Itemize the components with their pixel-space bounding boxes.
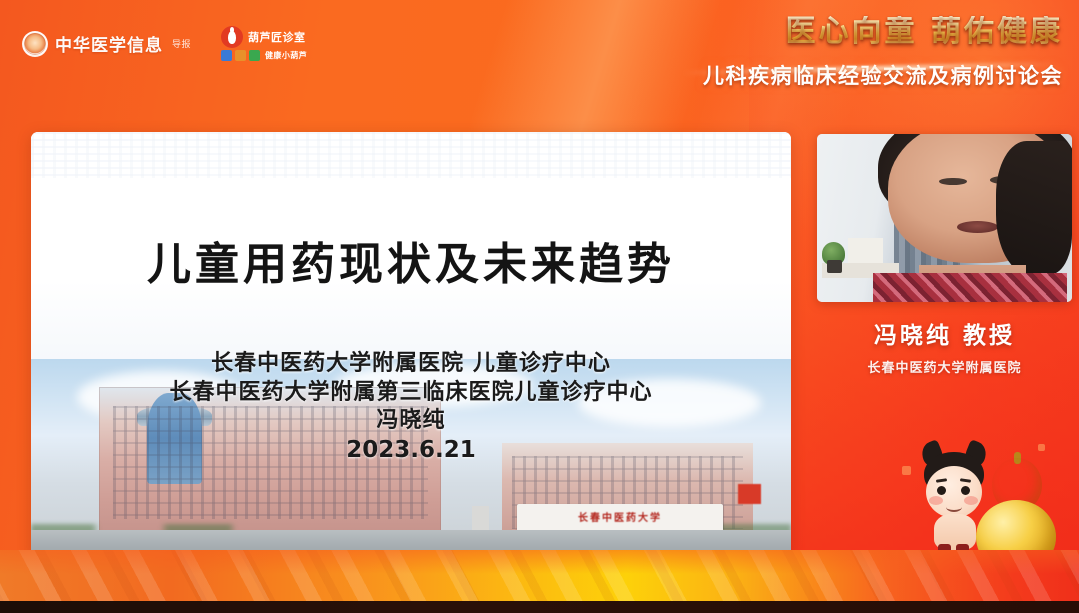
gourd-badge-icon — [221, 26, 243, 48]
speaker-video-tile[interactable] — [817, 134, 1072, 302]
chip-blue-icon — [221, 50, 232, 61]
speaker-organization: 长春中医药大学附属医院 — [817, 357, 1072, 376]
event-title-block: 医心向童 葫佑健康 儿科疾病临床经验交流及病例讨论会 — [703, 16, 1063, 90]
sparkle-icon — [1038, 444, 1045, 451]
logo-primary-suffix: 导报 — [172, 37, 191, 50]
cma-seal-icon — [22, 31, 48, 57]
slide-texture — [31, 132, 791, 178]
slide-line-1: 长春中医药大学附属医院 儿童诊疗中心 — [31, 350, 791, 379]
chip-orange-icon — [235, 50, 246, 61]
gate-sign-text: 长春中医药大学 — [517, 509, 722, 524]
logo-secondary-chips — [221, 50, 260, 61]
video-dark-object — [827, 260, 842, 273]
logo-gourd-clinic: 葫芦匠诊室 健康小葫芦 — [221, 26, 307, 61]
speaker-caption: 冯晓纯 教授 长春中医药大学附属医院 — [817, 316, 1072, 376]
sparkle-icon — [902, 466, 911, 475]
gourd-glyph-icon — [228, 31, 236, 44]
mascot-cheek-right — [964, 496, 978, 505]
mascot-smile — [946, 502, 962, 512]
mascot-eye-right — [961, 486, 970, 495]
mascot-eye-left — [937, 486, 946, 495]
broadcast-stage: 中华医学信息 导报 葫芦匠诊室 健康小葫芦 医心向童 葫佑健康 — [0, 0, 1079, 613]
slide-subtitle-block: 长春中医药大学附属医院 儿童诊疗中心 长春中医药大学附属第三临床医院儿童诊疗中心… — [31, 350, 791, 466]
logo-secondary-line1: 葫芦匠诊室 — [248, 29, 306, 45]
chip-green-icon — [249, 50, 260, 61]
slide-line-4: 2023.6.21 — [31, 436, 791, 466]
red-flag-icon — [738, 484, 761, 504]
logo-secondary-top-row: 葫芦匠诊室 — [221, 26, 307, 48]
event-title: 医心向童 葫佑健康 — [703, 16, 1063, 48]
logo-secondary-line2: 健康小葫芦 — [265, 50, 307, 61]
speaker-name: 冯晓纯 教授 — [817, 316, 1072, 350]
mascot-cheek-left — [929, 496, 943, 505]
speaker-hair-side — [996, 141, 1073, 275]
header-logos: 中华医学信息 导报 葫芦匠诊室 健康小葫芦 — [22, 26, 307, 61]
slide-line-2: 长春中医药大学附属第三临床医院儿童诊疗中心 — [31, 379, 791, 408]
video-box-object — [848, 238, 884, 263]
logo-chinese-medical-association: 中华医学信息 导报 — [22, 31, 191, 57]
event-subtitle: 儿科疾病临床经验交流及病例讨论会 — [703, 60, 1063, 90]
slide-title: 儿童用药现状及未来趋势 — [31, 228, 791, 292]
slide-line-3: 冯晓纯 — [31, 407, 791, 436]
logo-secondary-bottom-row: 健康小葫芦 — [221, 50, 307, 61]
footer-strip — [0, 601, 1079, 613]
logo-primary-name: 中华医学信息 — [55, 31, 163, 56]
speaker-floral-top — [873, 273, 1067, 302]
presentation-slide[interactable]: 儿童用药现状及未来趋势 长春中医药大学 长春中医药大学附属医院 儿童诊疗中 — [31, 132, 791, 560]
